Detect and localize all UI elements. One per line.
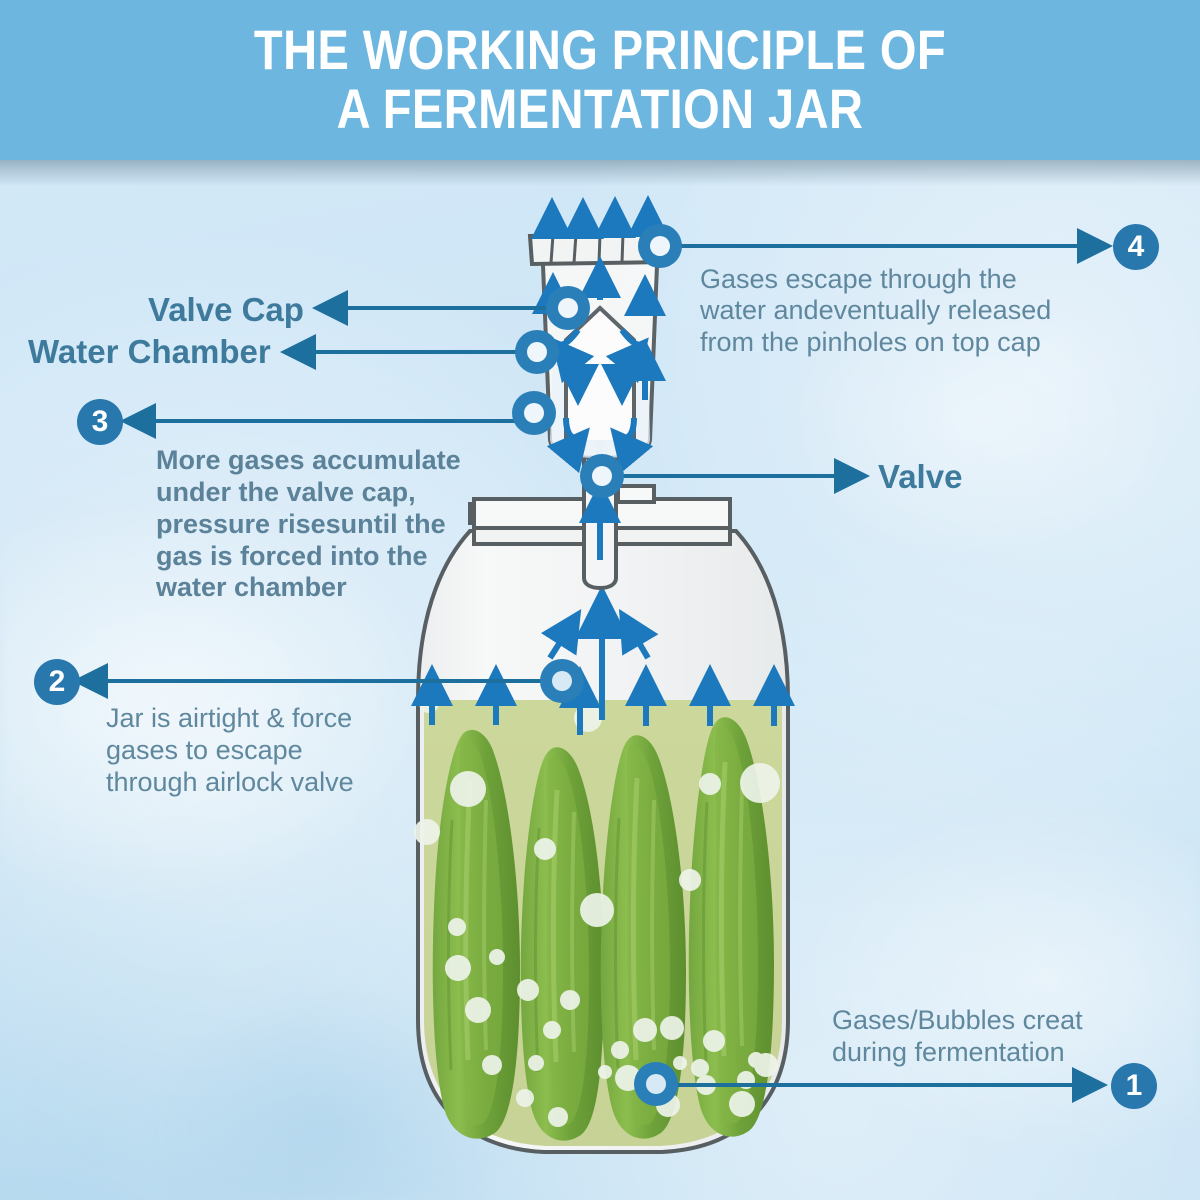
ring-marker-water-chamber bbox=[515, 330, 559, 374]
header-drop-shadow bbox=[0, 160, 1200, 186]
step-badge-1[interactable]: 1 bbox=[1111, 1063, 1157, 1109]
step-badge-3[interactable]: 3 bbox=[77, 399, 123, 445]
page-title: THE WORKING PRINCIPLE OF A FERMENTATION … bbox=[254, 21, 946, 139]
ring-marker-valve-cap bbox=[546, 286, 590, 330]
label-water-chamber: Water Chamber bbox=[28, 333, 271, 371]
header-bar: THE WORKING PRINCIPLE OF A FERMENTATION … bbox=[0, 0, 1200, 160]
ring-marker-step-1 bbox=[634, 1062, 678, 1106]
callout-text-2: Jar is airtight & force gases to escape … bbox=[106, 703, 354, 799]
callout-text-4: Gases escape through the water andeventu… bbox=[700, 264, 1051, 358]
ring-marker-valve bbox=[580, 454, 624, 498]
ring-marker-step-2 bbox=[540, 659, 584, 703]
ring-marker-step-3 bbox=[512, 391, 556, 435]
ring-marker-top-cap bbox=[638, 224, 682, 268]
step-badge-2[interactable]: 2 bbox=[34, 659, 80, 705]
escaping-gas-arrows bbox=[552, 201, 648, 232]
label-valve-cap: Valve Cap bbox=[148, 291, 304, 329]
step-badge-4[interactable]: 4 bbox=[1113, 224, 1159, 270]
callout-text-3: More gases accumulate under the valve ca… bbox=[156, 445, 461, 604]
callout-text-1: Gases/Bubbles creat during fermentation bbox=[832, 1005, 1083, 1069]
infographic-canvas: THE WORKING PRINCIPLE OF A FERMENTATION … bbox=[0, 0, 1200, 1200]
label-valve: Valve bbox=[878, 458, 962, 496]
